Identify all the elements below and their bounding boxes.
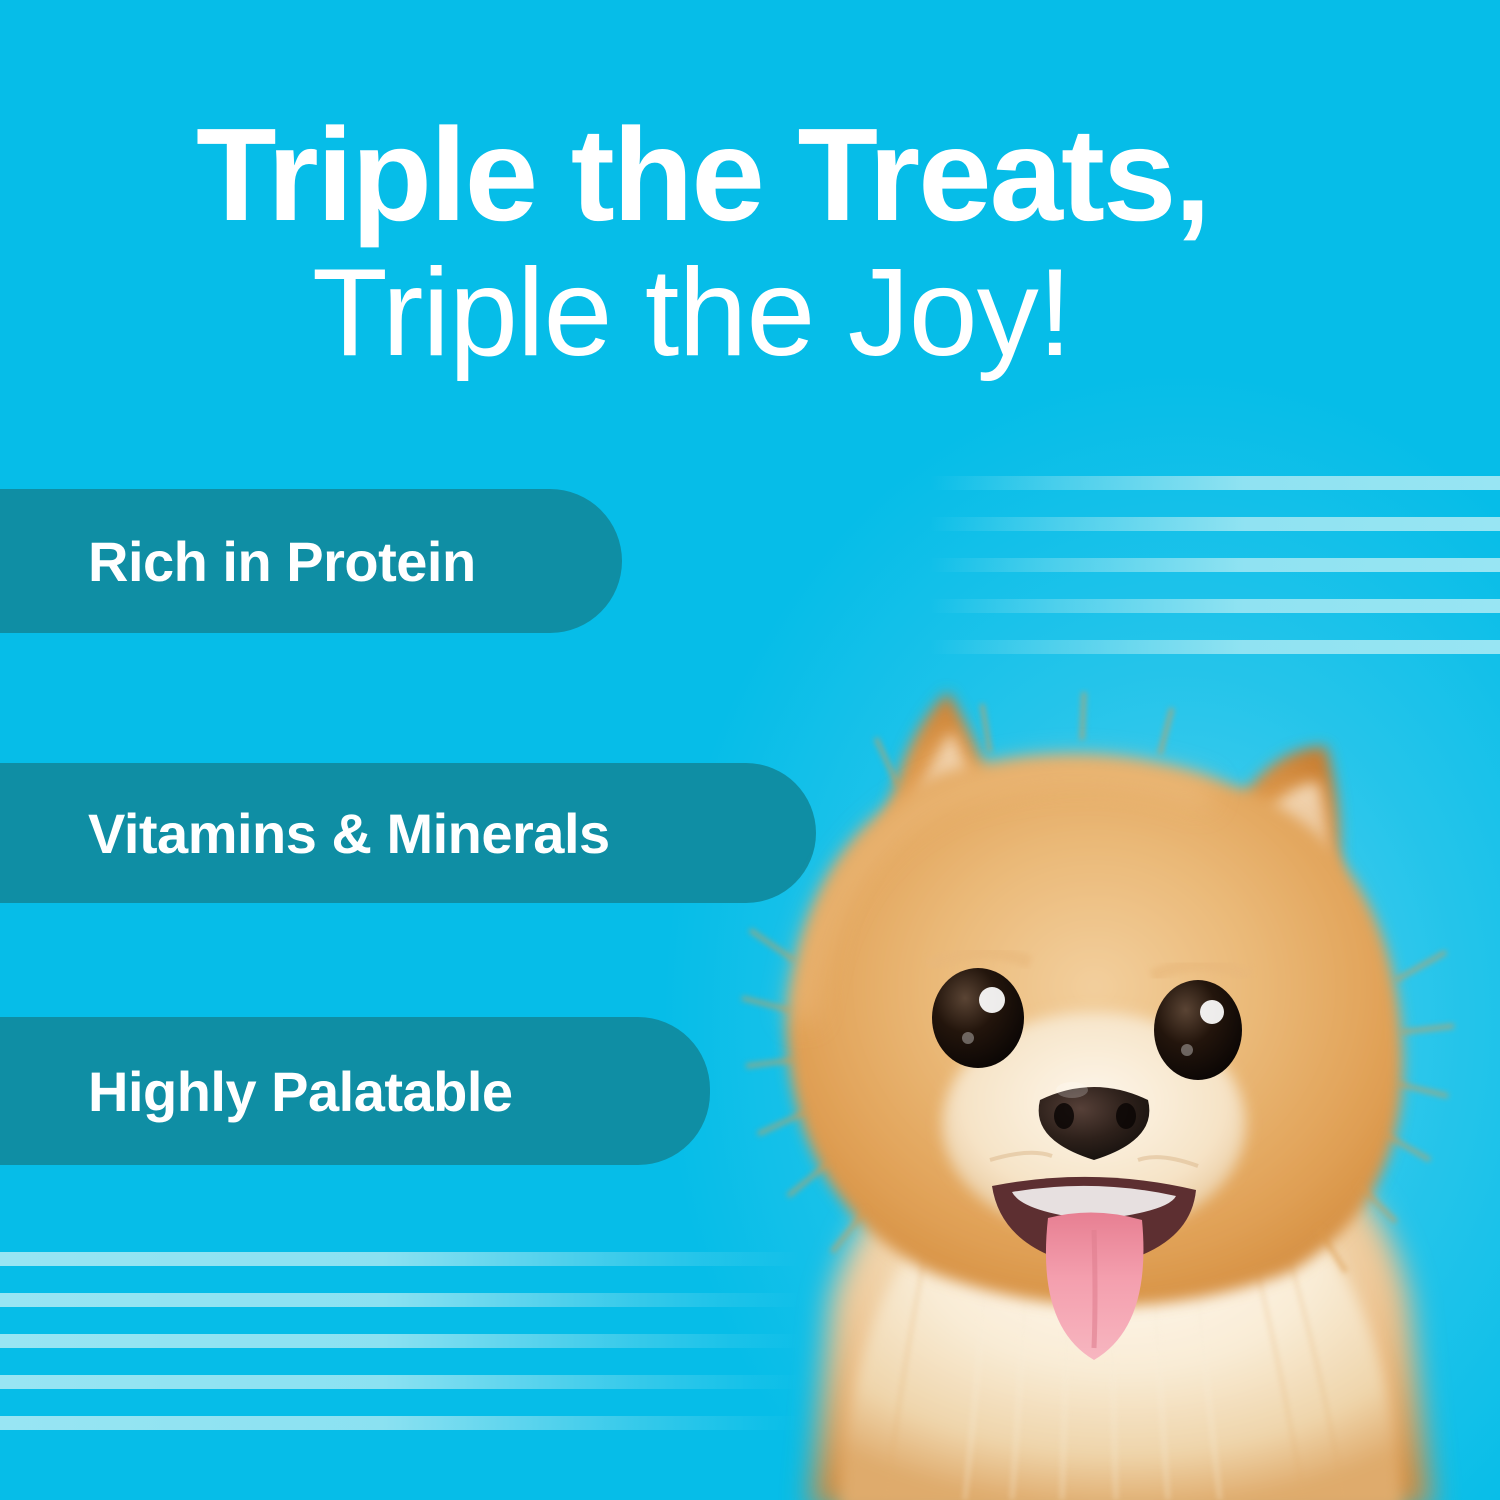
dog-muzzle: [942, 1012, 1246, 1236]
promo-banner: Triple the Treats, Triple the Joy! Rich …: [0, 0, 1500, 1500]
feature-pill-label: Highly Palatable: [88, 1059, 513, 1124]
stripe: [930, 599, 1500, 613]
stripe: [930, 558, 1500, 572]
headline-line-1: Triple the Treats,: [196, 108, 1376, 243]
feature-pill-label: Vitamins & Minerals: [88, 801, 610, 866]
feature-pill-label: Rich in Protein: [88, 529, 476, 594]
stripe: [930, 517, 1500, 531]
headline: Triple the Treats, Triple the Joy!: [196, 108, 1376, 381]
stripe: [0, 1293, 800, 1307]
stripe: [0, 1252, 800, 1266]
dog-head: [742, 692, 1454, 1306]
decorative-stripes-top-right: [930, 476, 1500, 666]
dog-illustration: [690, 600, 1500, 1500]
stripe: [0, 1375, 800, 1389]
dog-photo: [690, 600, 1500, 1500]
dog-ears: [876, 692, 1340, 940]
stripe: [930, 640, 1500, 654]
feature-pill-highly-palatable: Highly Palatable: [0, 1017, 710, 1165]
feature-pill-rich-in-protein: Rich in Protein: [0, 489, 622, 633]
decorative-stripes-bottom-left: [0, 1252, 800, 1437]
stripe: [0, 1416, 800, 1430]
dog-nose: [1039, 1082, 1150, 1160]
feature-pill-vitamins-and-minerals: Vitamins & Minerals: [0, 763, 816, 903]
dog-body: [810, 1120, 1432, 1500]
stripe: [0, 1334, 800, 1348]
dog-eyes: [928, 953, 1250, 1080]
stripe: [930, 476, 1500, 490]
headline-line-2: Triple the Joy!: [312, 247, 1376, 381]
dog-mouth: [990, 1153, 1198, 1360]
